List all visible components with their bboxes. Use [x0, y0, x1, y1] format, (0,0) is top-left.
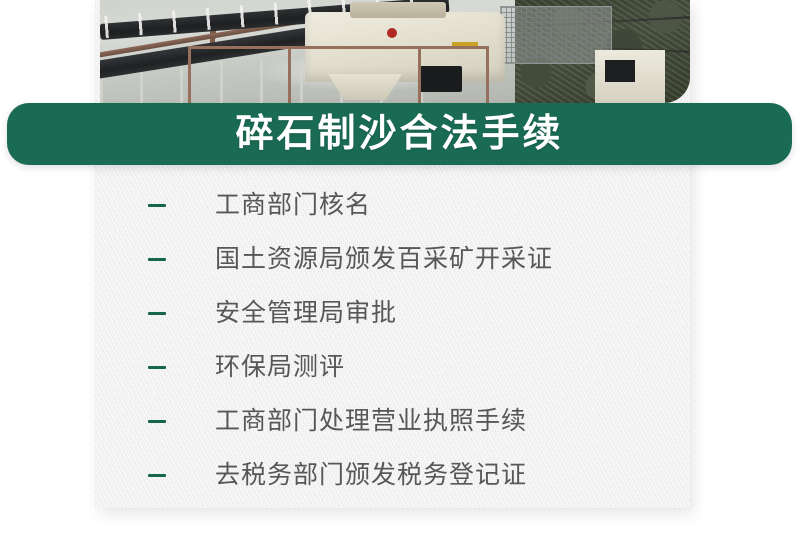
dash-marker-icon: [148, 420, 166, 423]
list-item-label: 国土资源局颁发百采矿开采证: [215, 247, 553, 272]
dash-marker-icon: [148, 366, 166, 369]
dash-marker-icon: [148, 312, 166, 315]
list-item-label: 安全管理局审批: [215, 301, 397, 326]
photo-machine-dark-port: [418, 66, 462, 92]
list-item-label: 工商部门核名: [215, 193, 371, 218]
photo-handrail-post-1: [188, 46, 191, 103]
photo-handrail-post-3: [418, 46, 421, 103]
list-item-label: 工商部门处理营业执照手续: [215, 409, 527, 434]
list-item: 安全管理局审批: [95, 286, 690, 340]
photo-handrail-post-2: [288, 46, 291, 103]
page-title: 碎石制沙合法手续: [235, 115, 563, 153]
list-item: 工商部门处理营业执照手续: [95, 394, 690, 448]
photo-machine-red-label: [387, 28, 397, 38]
procedure-list: 工商部门核名 国土资源局颁发百采矿开采证 安全管理局审批 环保局测评 工商部门处…: [95, 178, 690, 502]
list-item: 国土资源局颁发百采矿开采证: [95, 232, 690, 286]
dash-marker-icon: [148, 258, 166, 261]
dash-marker-icon: [148, 474, 166, 477]
list-item-label: 环保局测评: [215, 355, 345, 380]
title-banner: 碎石制沙合法手续: [7, 103, 792, 165]
photo-machine-feed-hopper-top: [350, 2, 446, 18]
photo-handrail-top: [188, 46, 488, 49]
photo-handrail-post-4: [486, 46, 489, 103]
photo-right-structure-opening: [605, 60, 635, 82]
list-item: 工商部门核名: [95, 178, 690, 232]
list-item: 环保局测评: [95, 340, 690, 394]
dash-marker-icon: [148, 204, 166, 207]
header-photo: [100, 0, 690, 103]
list-item: 去税务部门颁发税务登记证: [95, 448, 690, 502]
list-item-label: 去税务部门颁发税务登记证: [215, 463, 527, 488]
